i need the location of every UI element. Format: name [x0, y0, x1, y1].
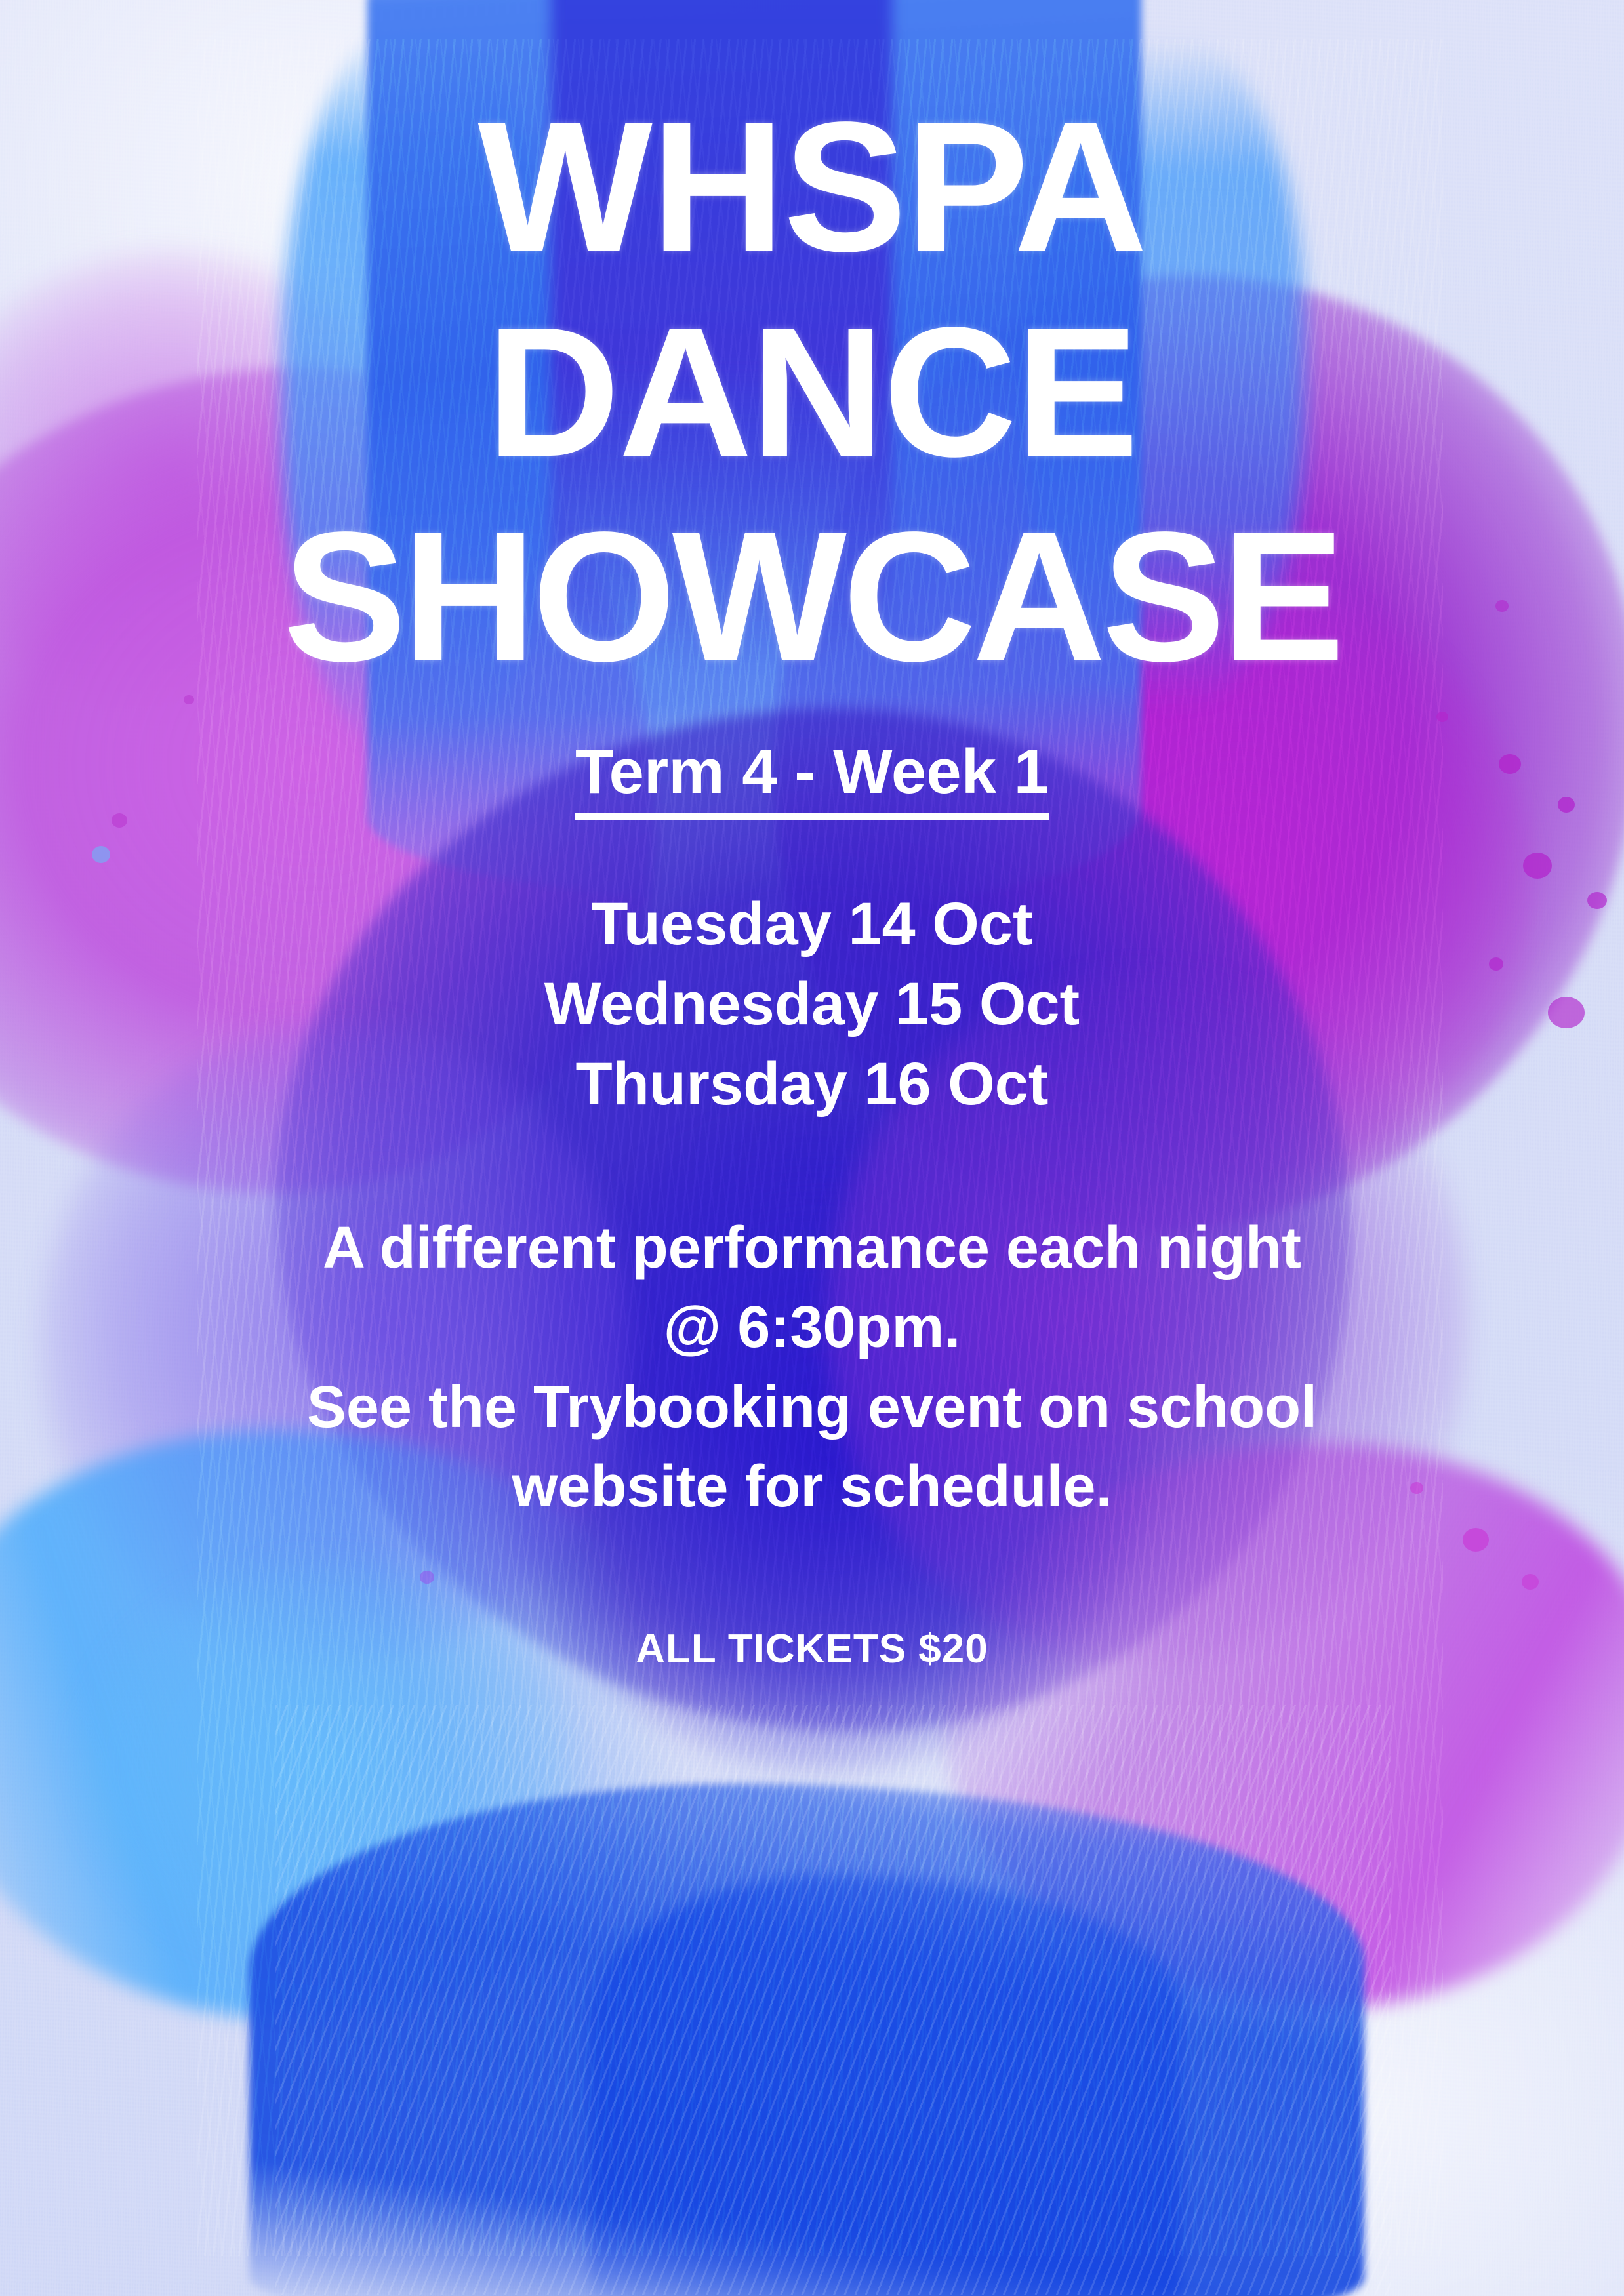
title-line-dance: DANCE [0, 304, 1624, 481]
title-line-whspa: WHSPA [0, 98, 1624, 276]
ticket-price-text: ALL TICKETS $20 [636, 1626, 988, 1672]
event-details-text: A different performance each night @ 6:3… [307, 1209, 1317, 1527]
poster-subtitle: Term 4 - Week 1 [575, 737, 1049, 807]
title-line-showcase: SHOWCASE [0, 508, 1624, 686]
poster-content: WHSPA DANCE SHOWCASE Term 4 - Week 1 Tue… [0, 0, 1624, 2296]
date-line-thursday: Thursday 16 Oct [544, 1044, 1080, 1124]
blurb-line-performance: A different performance each night [307, 1209, 1317, 1289]
blurb-line-schedule: website for schedule. [307, 1447, 1317, 1527]
poster-canvas: WHSPA DANCE SHOWCASE Term 4 - Week 1 Tue… [0, 0, 1624, 2296]
poster-title: WHSPA DANCE SHOWCASE [0, 98, 1624, 686]
date-line-tuesday: Tuesday 14 Oct [544, 884, 1080, 964]
performance-dates-list: Tuesday 14 Oct Wednesday 15 Oct Thursday… [544, 884, 1080, 1125]
blurb-line-time: @ 6:30pm. [307, 1288, 1317, 1368]
blurb-line-trybooking: See the Trybooking event on school [307, 1368, 1317, 1448]
date-line-wednesday: Wednesday 15 Oct [544, 964, 1080, 1044]
subtitle-underlined-text: Term 4 - Week 1 [575, 736, 1049, 820]
